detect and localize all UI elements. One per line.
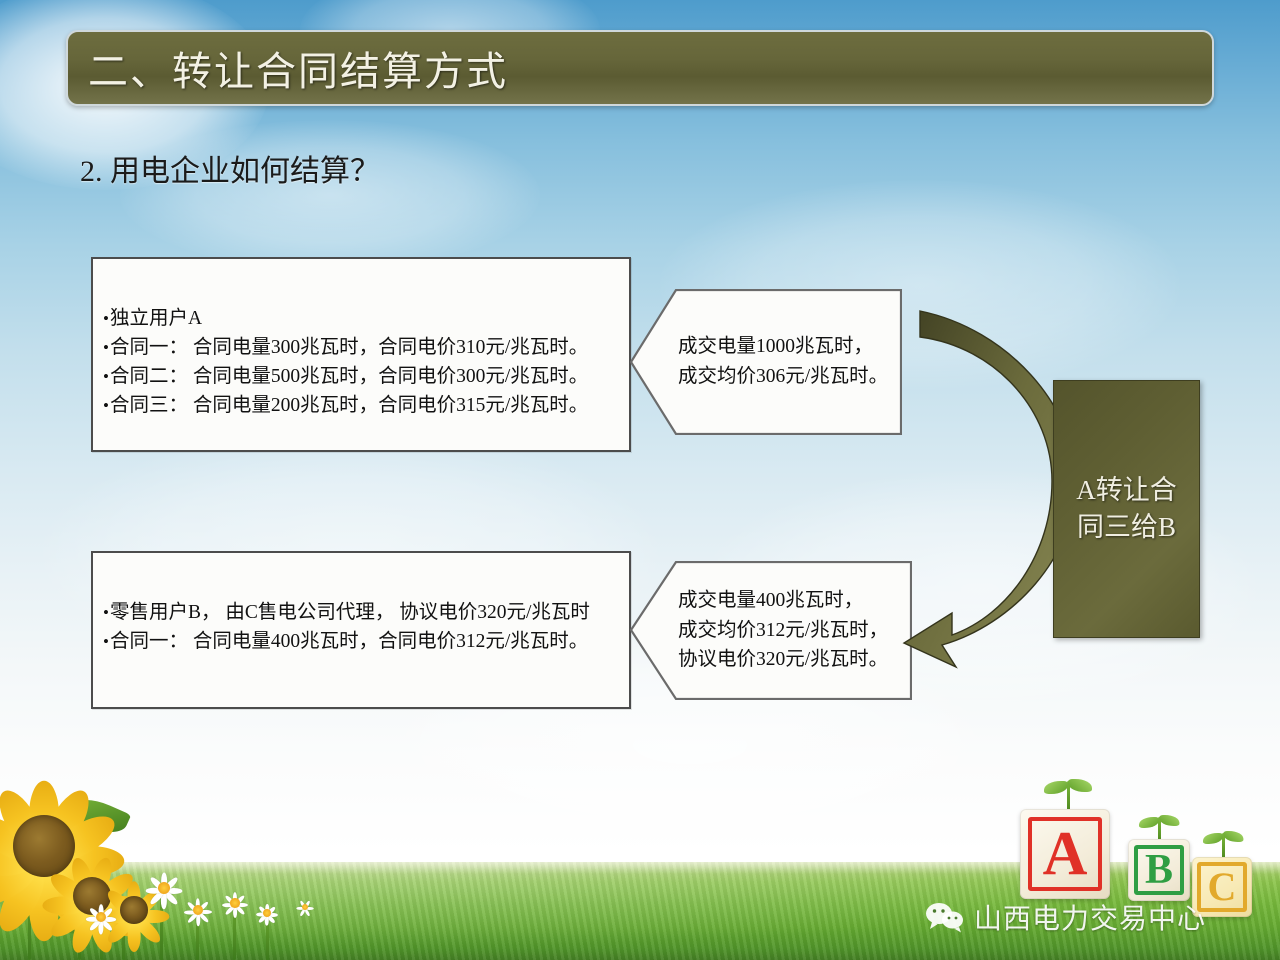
list-item: 合同三： 合同电量200兆瓦时，合同电价315元/兆瓦时。 (103, 392, 629, 421)
slide-canvas: A B C 二、转让合同结算方式 2. 用电企业如何结算？ 独立用户A 合同一： (0, 0, 1280, 960)
list-item: 合同二： 合同电量500兆瓦时，合同电价300元/兆瓦时。 (103, 363, 629, 392)
section-subtitle: 2. 用电企业如何结算？ (80, 146, 380, 190)
watermark: 山西电力交易中心 (925, 897, 1206, 937)
transfer-action-text: A转让合 同三给B (1076, 472, 1177, 547)
transfer-action-panel: A转让合 同三给B (1053, 380, 1200, 638)
callout-line: 成交均价306元/兆瓦时。 (678, 362, 892, 392)
list-item: 合同一： 合同电量300兆瓦时，合同电价310元/兆瓦时。 (103, 334, 629, 363)
info-list: 零售用户B， 由C售电公司代理， 协议电价320元/兆瓦时 合同一： 合同电量4… (103, 599, 629, 657)
transfer-line: A转让合 (1076, 472, 1177, 509)
slide-title-bar: 二、转让合同结算方式 (66, 30, 1214, 106)
callout-line: 协议电价320元/兆瓦时。 (678, 645, 902, 675)
block-letter: A (1043, 823, 1088, 885)
block-letter: B (1145, 849, 1173, 891)
callout-text: 成交电量400兆瓦时， 成交均价312元/兆瓦时， 协议电价320元/兆瓦时。 (678, 561, 902, 700)
info-box-user-a: 独立用户A 合同一： 合同电量300兆瓦时，合同电价310元/兆瓦时。 合同二：… (91, 257, 631, 452)
list-item: 独立用户A (103, 305, 629, 334)
block-a: A (1020, 809, 1110, 899)
callout-summary-b: 成交电量400兆瓦时， 成交均价312元/兆瓦时， 协议电价320元/兆瓦时。 (630, 561, 912, 700)
callout-line: 成交电量1000兆瓦时， (678, 332, 892, 362)
callout-text: 成交电量1000兆瓦时， 成交均价306元/兆瓦时。 (678, 289, 892, 435)
block-b: B (1128, 839, 1190, 901)
abc-blocks-decoration: A B C (1010, 795, 1260, 905)
callout-line: 成交电量400兆瓦时， (678, 586, 902, 616)
info-box-user-b: 零售用户B， 由C售电公司代理， 协议电价320元/兆瓦时 合同一： 合同电量4… (91, 551, 631, 709)
callout-summary-a: 成交电量1000兆瓦时， 成交均价306元/兆瓦时。 (630, 289, 902, 435)
callout-line: 成交均价312元/兆瓦时， (678, 616, 902, 646)
block-letter: C (1208, 867, 1237, 907)
page-title: 二、转让合同结算方式 (68, 39, 508, 97)
info-list: 独立用户A 合同一： 合同电量300兆瓦时，合同电价310元/兆瓦时。 合同二：… (103, 305, 629, 420)
transfer-line: 同三给B (1076, 509, 1177, 546)
flower-decoration (0, 770, 360, 960)
wechat-icon (925, 901, 965, 933)
watermark-text: 山西电力交易中心 (974, 897, 1206, 937)
list-item: 零售用户B， 由C售电公司代理， 协议电价320元/兆瓦时 (103, 599, 629, 628)
list-item: 合同一： 合同电量400兆瓦时，合同电价312元/兆瓦时。 (103, 628, 629, 657)
